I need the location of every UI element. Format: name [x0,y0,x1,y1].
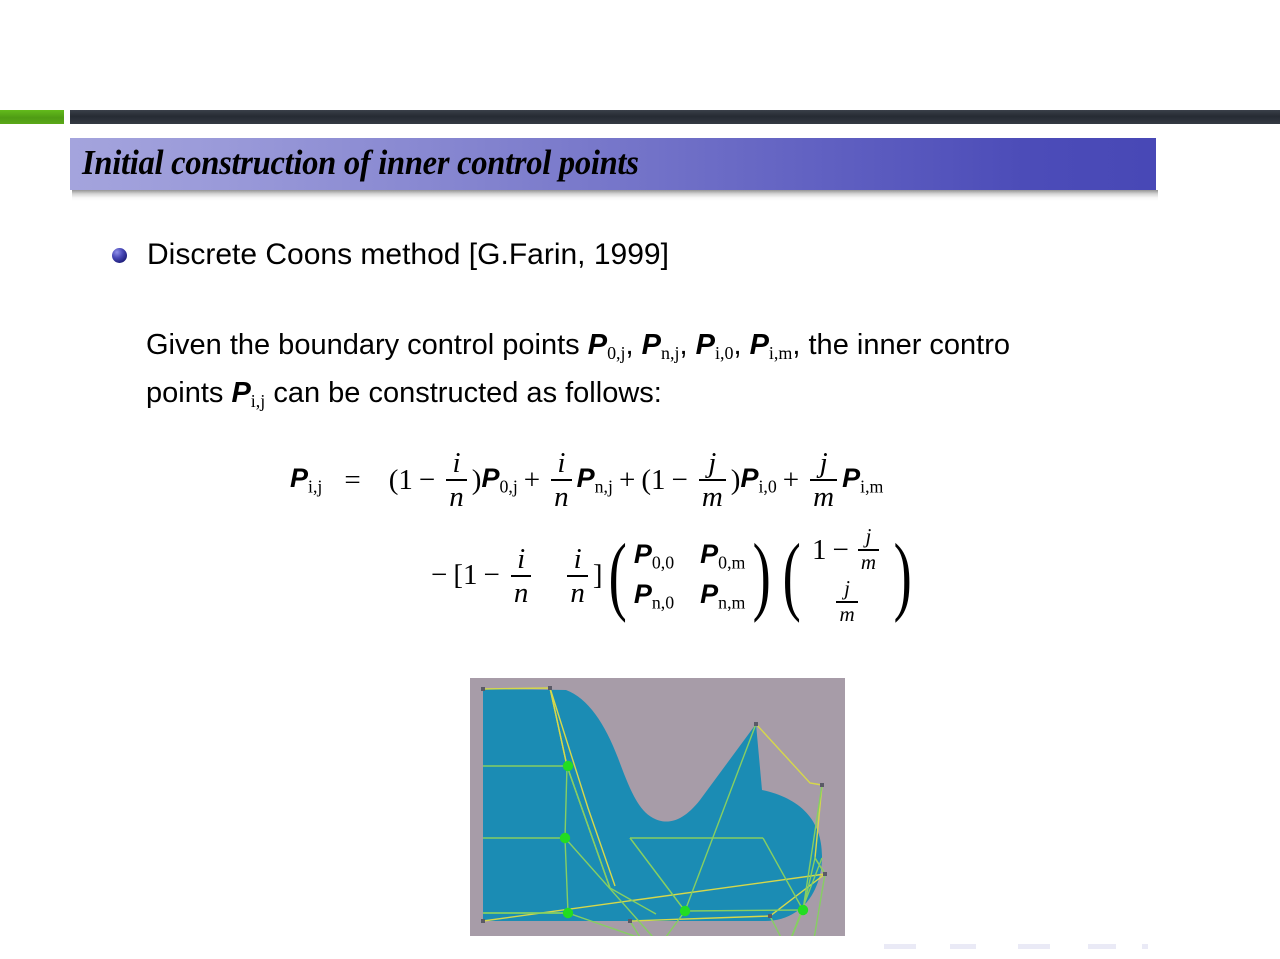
vector-paren-open: ( [782,549,800,604]
coons-patch-control-mesh [470,678,845,936]
paren-close-1: ) [472,464,482,497]
coons-patch-figure [470,678,845,936]
artifact-mark [1088,944,1116,949]
bracket-close: ] [593,559,603,592]
matrix-cell-p00: P0,0 [634,539,674,573]
bullet-list-item: Discrete Coons method [G.Farin, 1999] [112,238,669,272]
paragraph-lead: Given the boundary control points [146,329,588,361]
artifact-mark [1018,944,1050,949]
row2-one: 1 [463,559,478,592]
matrix-paren-open: ( [608,549,626,604]
body-paragraph: Given the boundary control points P0,j, … [146,325,1280,421]
separator: , [680,329,696,361]
top-accent-bar-dark [70,110,1280,124]
fraction-j-over-m-1: j m [699,448,726,512]
row2-minus: − [431,559,447,592]
artifact-mark [884,944,916,949]
plus-2: + [619,464,635,497]
paragraph-tail: , the inner contro [792,329,1010,361]
formula-row-1: Pi,j = ( 1 − i n ) P0,j + i n Pn,j + ( 1… [290,448,917,512]
fraction-i-over-n-2: i n [551,448,572,512]
matrix-cell-pn0: Pn,0 [634,579,674,613]
term-pnj: Pn,j [577,463,613,497]
separator: , [733,329,749,361]
artifact-mark [950,944,976,949]
formula-lhs: Pi,j [290,463,322,497]
top-accent-bar-green [0,110,64,124]
one-a: 1 [398,464,413,497]
vector-paren-close: ) [894,549,912,604]
term-p0j: P0,j [481,463,517,497]
paren-open-2: ( [641,464,651,497]
term-pi0: Pi,0 [740,463,776,497]
plus-3: + [783,464,799,497]
row2-fraction-i-over-n-1: i n [511,544,532,608]
equals-sign: = [344,464,360,497]
symbol-pim: Pi,m [750,329,793,361]
symbol-pnj: Pn,j [642,329,680,361]
separator: , [626,329,642,361]
matrix-paren-close: ) [753,549,771,604]
matrix-cell-pnm: Pn,m [700,579,745,613]
column-vector: 1 − j m j m [812,526,882,625]
minus-b: − [671,464,687,497]
term-pim: Pi,m [842,463,883,497]
paren-open-1: ( [389,464,399,497]
slide-title-band: Initial construction of inner control po… [70,138,1156,190]
symbol-p0j: P0,j [588,329,626,361]
plus-1: + [524,464,540,497]
symbol-pi0: Pi,0 [696,329,734,361]
coons-formula: Pi,j = ( 1 − i n ) P0,j + i n Pn,j + ( 1… [290,448,917,626]
vector-fraction-j-over-m-1: j m [858,526,879,574]
control-point[interactable] [560,833,570,843]
one-b: 1 [651,464,666,497]
control-point[interactable] [563,908,573,918]
formula-row-2: − [ 1 − i n i n ] ( P0,0 P0,m Pn,0 Pn,m … [425,526,917,625]
artifact-mark [1142,944,1148,949]
page-title: Initial construction of inner control po… [82,138,639,190]
bullet-sphere-icon [112,248,127,263]
coefficient-matrix: P0,0 P0,m Pn,0 Pn,m [634,539,746,614]
minus-a: − [419,464,435,497]
vector-fraction-j-over-m-2: j m [836,578,857,626]
matrix-cell-p0m: P0,m [700,539,745,573]
vector-cell-bottom: j m [833,578,860,626]
paragraph-line2-pre: points [146,377,231,409]
vector-cell-top: 1 − j m [812,526,882,574]
fraction-i-over-n-1: i n [446,448,467,512]
fraction-j-over-m-2: j m [810,448,837,512]
control-point[interactable] [798,905,808,915]
paren-close-2: ) [731,464,741,497]
control-point[interactable] [563,761,573,771]
title-band-shadow [72,190,1158,201]
bracket-open: [ [453,559,463,592]
paragraph-line2-post: can be constructed as follows: [265,377,662,409]
control-point[interactable] [680,906,690,916]
row2-fraction-i-over-n-2: i n [567,544,588,608]
symbol-pij: Pi,j [231,377,265,409]
bullet-item-label: Discrete Coons method [G.Farin, 1999] [147,238,669,272]
row2-minus-2: − [484,559,500,592]
